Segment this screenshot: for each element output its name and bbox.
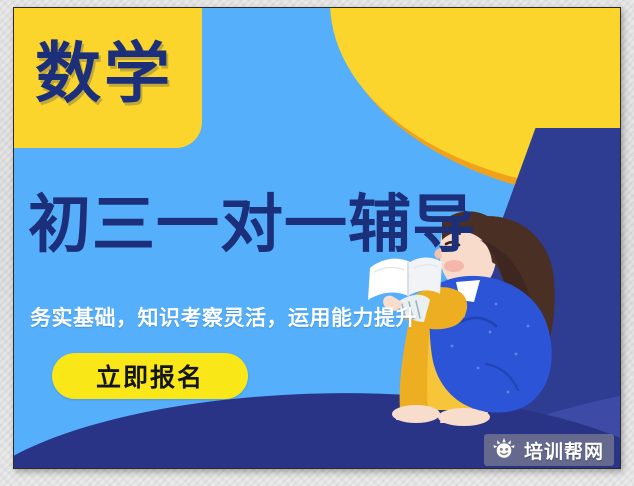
page-title: 初三一对一辅导 — [28, 192, 621, 258]
signup-button-label: 立即报名 — [96, 358, 204, 394]
watermark-label: 培训帮网 — [524, 437, 604, 464]
course-poster: 数学 — [13, 7, 621, 469]
sun-face-icon — [492, 437, 516, 464]
image-frame: 数学 — [0, 0, 634, 486]
subject-badge: 数学 — [13, 7, 202, 148]
site-watermark: 培训帮网 — [484, 434, 614, 466]
signup-button[interactable]: 立即报名 — [52, 353, 248, 399]
subtitle-text: 务实基础，知识考察灵活，运用能力提升 — [30, 302, 417, 332]
subject-badge-label: 数学 — [35, 41, 173, 107]
